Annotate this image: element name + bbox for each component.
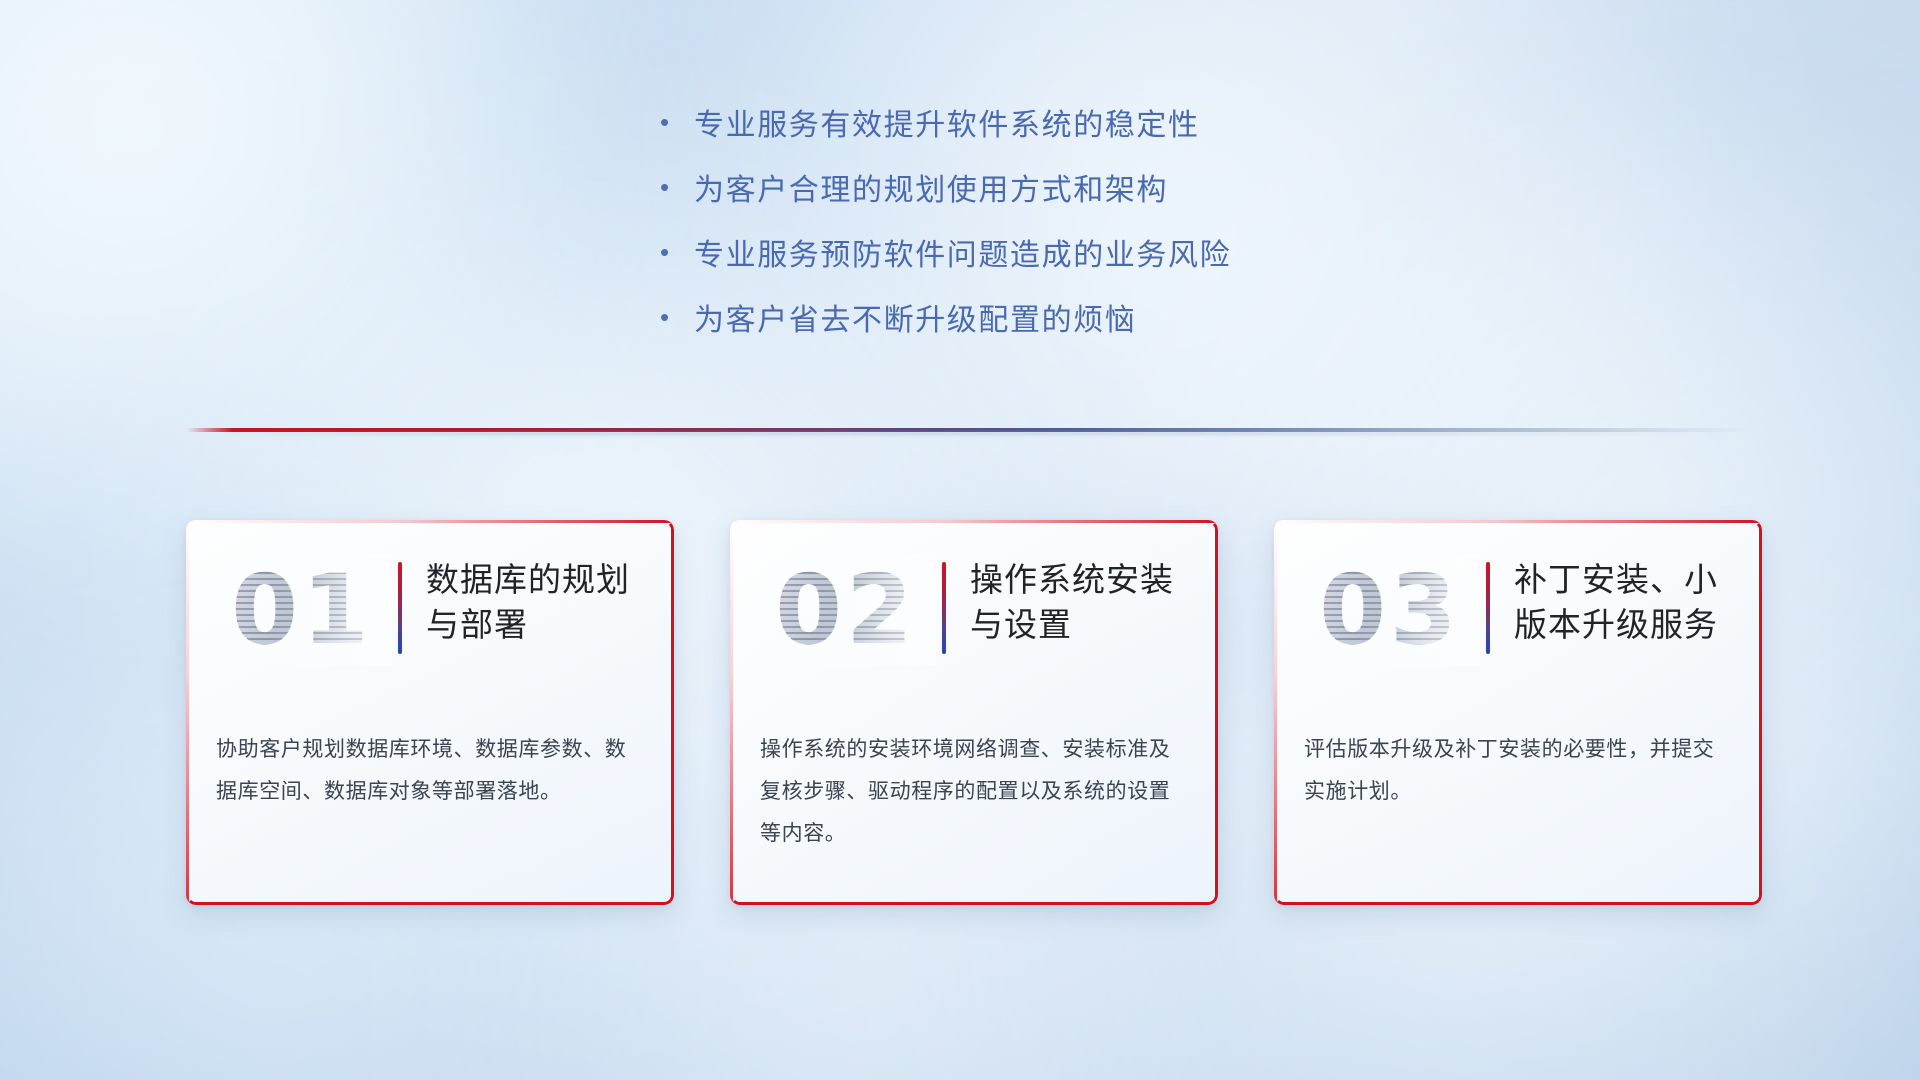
list-item: • 为客户省去不断升级配置的烦恼 xyxy=(660,295,1231,360)
card-description: 操作系统的安装环境网络调查、安装标准及复核步骤、驱动程序的配置以及系统的设置等内… xyxy=(730,685,1218,855)
bullet-dot-icon: • xyxy=(660,304,694,330)
card-accent-bar xyxy=(942,562,946,654)
bullet-dot-icon: • xyxy=(660,174,694,200)
service-card[interactable]: 01 数据库的规划与部署 协助客户规划数据库环境、数据库参数、数据库空间、数据库… xyxy=(186,520,674,905)
card-accent-bar xyxy=(1486,562,1490,654)
card-header: 01 数据库的规划与部署 xyxy=(186,520,674,685)
card-number-watermark: 01 xyxy=(212,554,392,666)
card-title: 操作系统安装与设置 xyxy=(970,554,1188,647)
section-divider xyxy=(186,428,1754,435)
card-accent-bar xyxy=(398,562,402,654)
bullet-item-label: 专业服务有效提升软件系统的稳定性 xyxy=(694,100,1200,144)
bullet-dot-icon: • xyxy=(660,109,694,135)
list-item: • 专业服务预防软件问题造成的业务风险 xyxy=(660,230,1231,295)
card-header: 03 补丁安装、小版本升级服务 xyxy=(1274,520,1762,685)
benefits-bullet-list: • 专业服务有效提升软件系统的稳定性 • 为客户合理的规划使用方式和架构 • 专… xyxy=(660,100,1231,360)
divider-shadow xyxy=(196,432,1744,435)
card-title: 数据库的规划与部署 xyxy=(426,554,644,647)
bullet-item-label: 为客户省去不断升级配置的烦恼 xyxy=(694,295,1136,339)
service-card[interactable]: 03 补丁安装、小版本升级服务 评估版本升级及补丁安装的必要性，并提交实施计划。 xyxy=(1274,520,1762,905)
card-number-watermark: 03 xyxy=(1300,554,1480,666)
bullet-item-label: 专业服务预防软件问题造成的业务风险 xyxy=(694,230,1231,274)
service-card[interactable]: 02 操作系统安装与设置 操作系统的安装环境网络调查、安装标准及复核步骤、驱动程… xyxy=(730,520,1218,905)
card-description: 评估版本升级及补丁安装的必要性，并提交实施计划。 xyxy=(1274,685,1762,813)
service-card-group: 01 数据库的规划与部署 协助客户规划数据库环境、数据库参数、数据库空间、数据库… xyxy=(186,520,1762,905)
list-item: • 为客户合理的规划使用方式和架构 xyxy=(660,165,1231,230)
bullet-item-label: 为客户合理的规划使用方式和架构 xyxy=(694,165,1168,209)
bullet-dot-icon: • xyxy=(660,239,694,265)
list-item: • 专业服务有效提升软件系统的稳定性 xyxy=(660,100,1231,165)
card-number-watermark: 02 xyxy=(756,554,936,666)
card-title: 补丁安装、小版本升级服务 xyxy=(1514,554,1732,647)
card-header: 02 操作系统安装与设置 xyxy=(730,520,1218,685)
slide-content: • 专业服务有效提升软件系统的稳定性 • 为客户合理的规划使用方式和架构 • 专… xyxy=(0,0,1920,1080)
card-description: 协助客户规划数据库环境、数据库参数、数据库空间、数据库对象等部署落地。 xyxy=(186,685,674,813)
